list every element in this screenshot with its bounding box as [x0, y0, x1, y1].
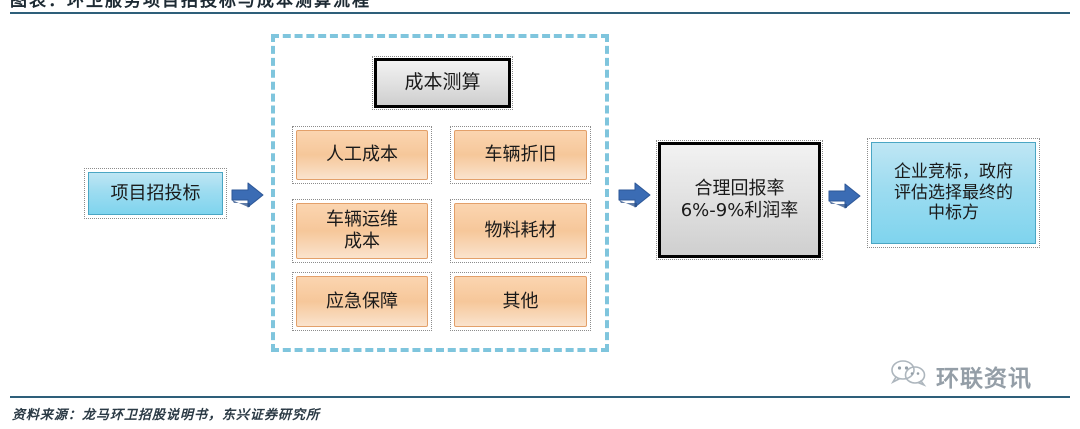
final-line3: 中标方: [928, 203, 979, 224]
flow-node-label: 车辆折旧: [485, 144, 557, 166]
watermark-label: 环联资讯: [936, 359, 1032, 393]
flow-node-other[interactable]: 其他: [454, 276, 587, 327]
source-note: 资料来源：龙马环卫招股说明书，东兴证券研究所: [12, 404, 320, 423]
flow-node-project-bidding[interactable]: 项目招投标: [88, 172, 223, 215]
flow-node-material-consumables[interactable]: 物料耗材: [454, 203, 587, 259]
wechat-icon: [890, 358, 930, 393]
flow-node-label: 人工成本: [326, 144, 398, 166]
flow-node-label-line2: 成本: [344, 231, 380, 253]
arrow-right-icon-2: [618, 180, 652, 210]
top-divider: [10, 12, 1070, 14]
flow-node-label: 物料耗材: [485, 220, 557, 242]
return-rate-line1: 合理回报率: [695, 178, 785, 200]
flow-node-label: 项目招投标: [111, 183, 201, 205]
final-line1: 企业竞标，政府: [894, 162, 1013, 183]
flow-node-cost-calculation[interactable]: 成本测算: [374, 58, 511, 108]
flow-node-label: 其他: [503, 291, 539, 313]
flow-node-label: 应急保障: [326, 291, 398, 313]
flow-node-vehicle-operation-cost[interactable]: 车辆运维 成本: [296, 203, 428, 259]
flow-node-final-winner-selection[interactable]: 企业竞标，政府 评估选择最终的 中标方: [871, 142, 1036, 244]
final-line2: 评估选择最终的: [894, 183, 1013, 204]
flow-node-label: 成本测算: [404, 71, 480, 94]
arrow-right-icon-3: [828, 181, 862, 211]
flow-node-reasonable-return-rate[interactable]: 合理回报率 6%-9%利润率: [658, 142, 821, 258]
arrow-right-icon-1: [231, 180, 265, 210]
footer-divider: [10, 396, 1070, 398]
watermark: 环联资讯: [890, 358, 1032, 393]
flow-node-labor-cost[interactable]: 人工成本: [296, 130, 428, 180]
flow-node-emergency-support[interactable]: 应急保障: [296, 276, 428, 327]
flow-node-label-line1: 车辆运维: [326, 209, 398, 231]
flow-node-vehicle-depreciation[interactable]: 车辆折旧: [454, 130, 587, 180]
return-rate-line2: 6%-9%利润率: [681, 200, 799, 222]
page-title: 图表：环卫服务项目招投标与成本测算流程: [10, 0, 371, 11]
